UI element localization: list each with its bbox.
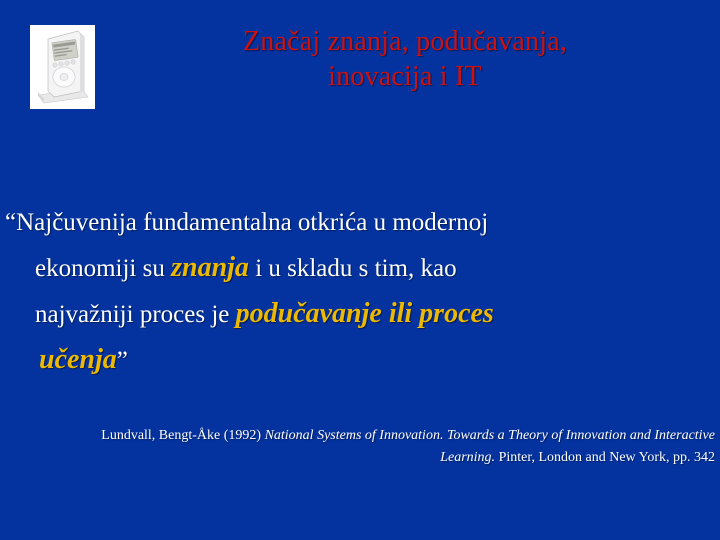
close-quote-mark: ” <box>117 347 128 374</box>
quote-line-2-text-a: ekonomiji su <box>35 255 171 282</box>
title-line-2: inovacija i IT <box>120 59 690 94</box>
citation-author-year: Lundvall, Bengt-Åke (1992) <box>101 428 264 443</box>
slide-title: Značaj znanja, podučavanja, inovacija i … <box>120 24 690 94</box>
quote-line-2: ekonomiji su znanja i u skladu s tim, ka… <box>5 245 715 291</box>
ipod-illustration <box>30 25 95 109</box>
quote-body: “Najčuvenija fundamentalna otkrića u mod… <box>5 200 715 383</box>
open-quote-mark: “ <box>5 209 16 236</box>
citation: Lundvall, Bengt-Åke (1992) National Syst… <box>55 425 715 469</box>
quote-line-4: učenja” <box>5 337 715 383</box>
quote-highlight-poducavanje: podučavanje ili proces <box>236 298 494 329</box>
quote-line-2-text-b: i u skladu s tim, kao <box>249 255 457 282</box>
title-line-1: Značaj znanja, podučavanja, <box>120 24 690 59</box>
ipod-in-dock-photo <box>30 25 95 109</box>
quote-line-1: “Najčuvenija fundamentalna otkrića u mod… <box>5 200 715 245</box>
quote-line-3-text-a: najvažniji proces je <box>35 301 236 328</box>
quote-highlight-ucenja: učenja <box>39 344 117 375</box>
quote-highlight-znanja: znanja <box>171 252 249 283</box>
presentation-slide: Značaj znanja, podučavanja, inovacija i … <box>0 0 720 540</box>
quote-line-3: najvažniji proces je podučavanje ili pro… <box>5 291 715 337</box>
quote-line-1-text: Najčuvenija fundamentalna otkrića u mode… <box>16 209 488 236</box>
citation-publisher: Pinter, London and New York, pp. 342 <box>495 450 715 465</box>
